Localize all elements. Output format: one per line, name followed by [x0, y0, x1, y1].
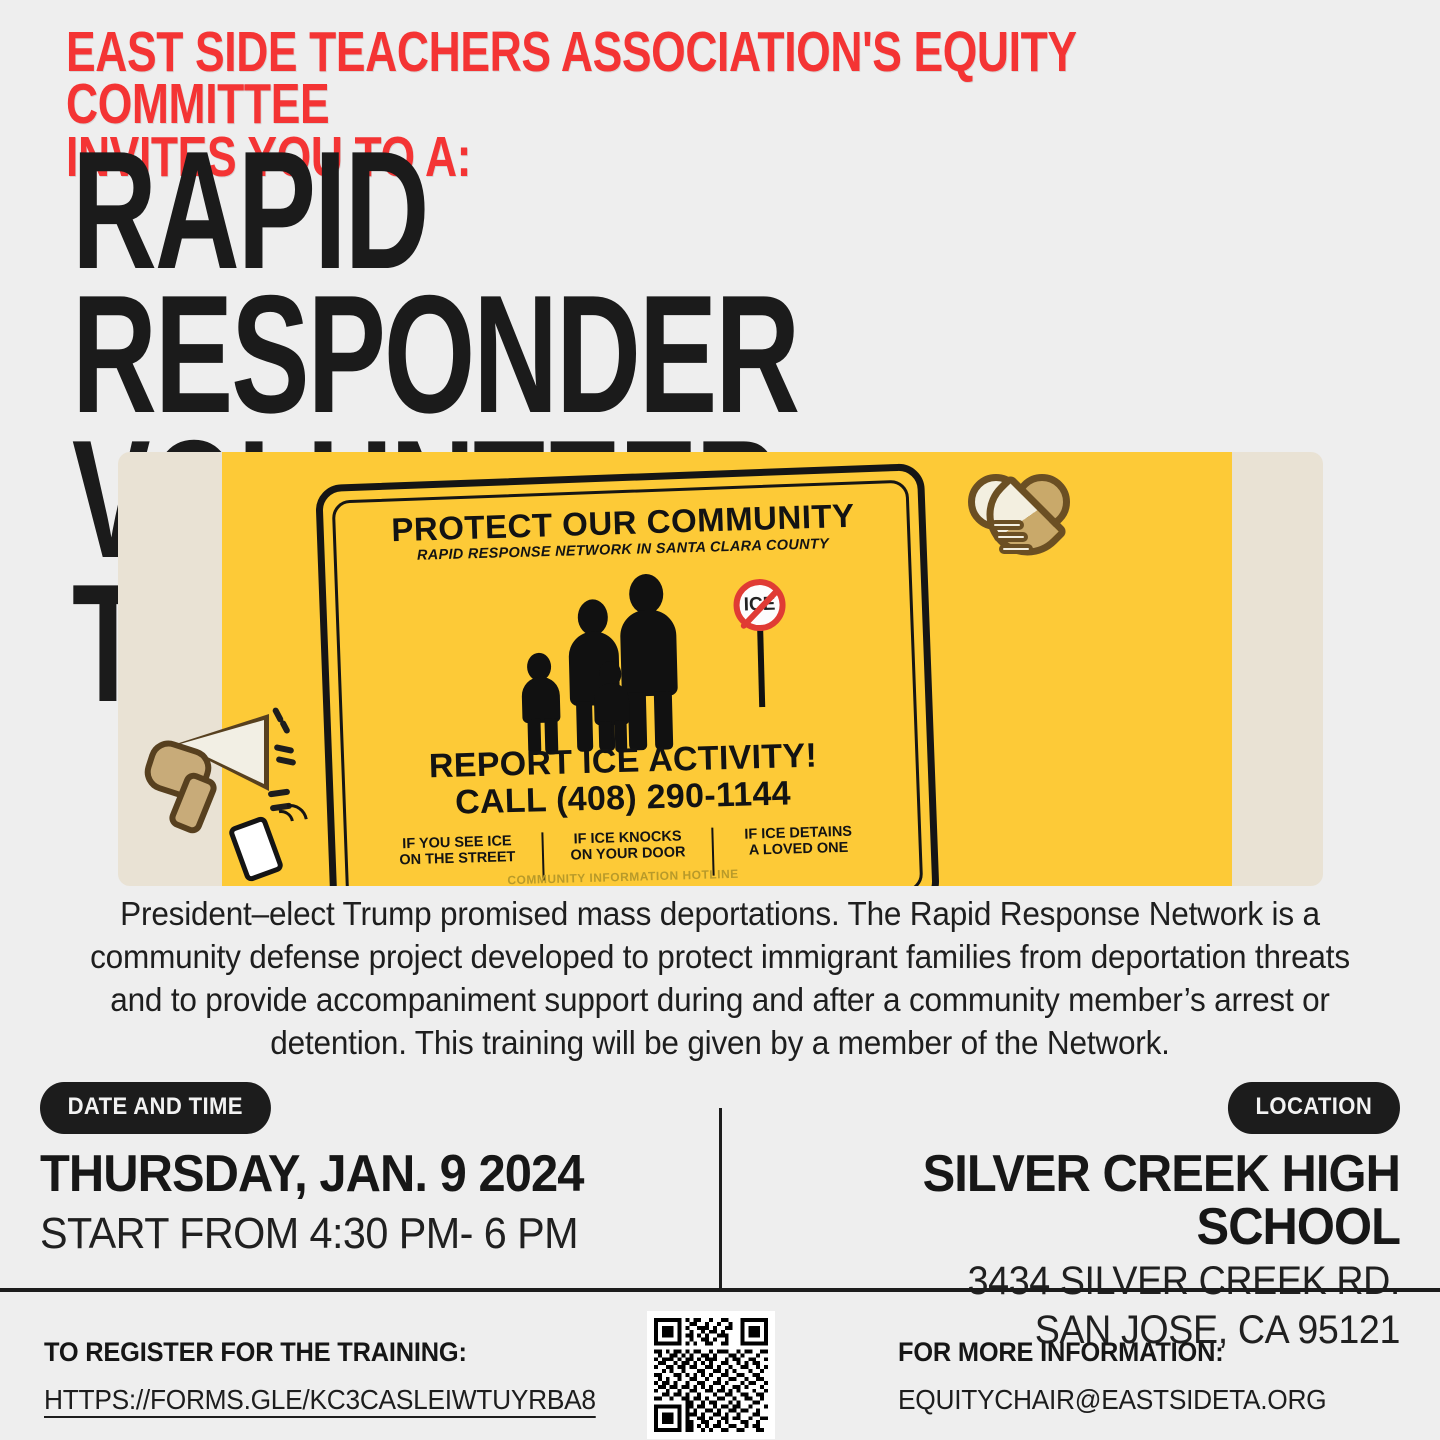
event-time: START FROM 4:30 PM- 6 PM	[40, 1211, 642, 1257]
flyer-page: EAST SIDE TEACHERS ASSOCIATION'S EQUITY …	[0, 0, 1440, 1440]
family-silhouette: ICE	[511, 568, 786, 755]
sign-pole	[757, 627, 765, 707]
date-time-block: DATE AND TIME THURSDAY, JAN. 9 2024 STAR…	[40, 1082, 680, 1257]
qr-code[interactable]	[647, 1311, 775, 1439]
megaphone-icon	[138, 702, 293, 832]
venue-name: SILVER CREEK HIGH SCHOOL	[761, 1148, 1400, 1254]
venue-street: 3434 SILVER CREEK RD.	[761, 1260, 1400, 1303]
event-date: THURSDAY, JAN. 9 2024	[40, 1148, 642, 1201]
no-ice-icon: ICE	[733, 578, 786, 631]
location-block: LOCATION SILVER CREEK HIGH SCHOOL 3434 S…	[720, 1082, 1400, 1352]
location-pill: LOCATION	[1228, 1082, 1400, 1134]
poster-image: PROTECT OUR COMMUNITY RAPID RESPONSE NET…	[118, 452, 1323, 886]
register-url[interactable]: HTTPS://FORMS.GLE/KC3CASLEIWTUYRBA8	[44, 1384, 608, 1416]
horizontal-divider	[0, 1288, 1440, 1292]
description-paragraph: President–elect Trump promised mass depo…	[67, 893, 1373, 1065]
vertical-divider	[719, 1108, 722, 1290]
register-block: TO REGISTER FOR THE TRAINING: HTTPS://FO…	[44, 1337, 644, 1416]
handshake-heart-icon	[966, 464, 1078, 564]
register-heading: TO REGISTER FOR THE TRAINING:	[44, 1337, 608, 1368]
more-info-block: FOR MORE INFORMATION: EQUITYCHAIR@EASTSI…	[898, 1337, 1418, 1416]
info-email[interactable]: EQUITYCHAIR@EASTSIDETA.ORG	[898, 1384, 1387, 1416]
info-heading: FOR MORE INFORMATION:	[898, 1337, 1387, 1368]
date-time-pill: DATE AND TIME	[40, 1082, 270, 1134]
